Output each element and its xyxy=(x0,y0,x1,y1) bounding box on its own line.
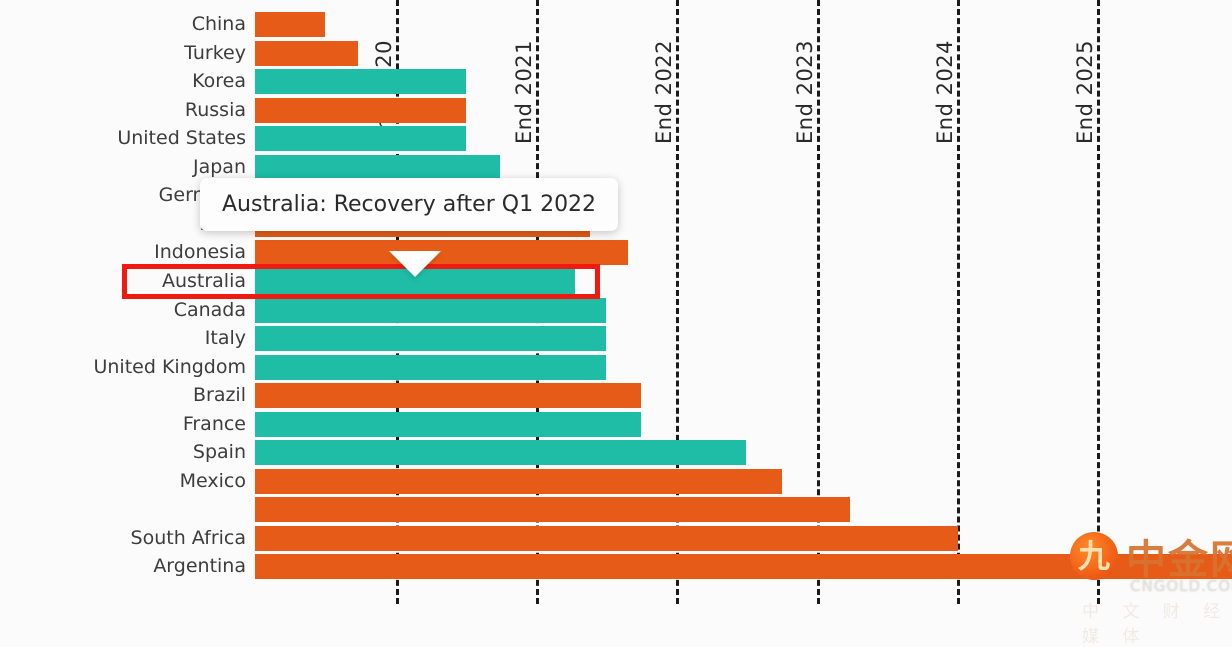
bar-indonesia[interactable] xyxy=(255,240,628,265)
y-axis-label-united-kingdom: United Kingdom xyxy=(0,358,246,377)
bar-unlabeled-17[interactable] xyxy=(255,497,850,522)
y-axis-label-united-states: United States xyxy=(0,129,246,148)
bar-korea[interactable] xyxy=(255,69,466,94)
gridline-label-end-2021: End 2021 xyxy=(512,40,536,144)
watermark-logo-glyph: 九 xyxy=(1078,540,1110,572)
tooltip-arrow-icon xyxy=(389,251,441,277)
gridline-label-end-2023: End 2023 xyxy=(793,40,817,144)
watermark: 九 中金网 CNGOLD.COM.CN 中 文 财 经 新 媒 体 xyxy=(1070,527,1232,647)
bar-france[interactable] xyxy=(255,412,641,437)
y-axis-label-mexico: Mexico xyxy=(0,472,246,491)
bar-mexico[interactable] xyxy=(255,469,782,494)
bar-spain[interactable] xyxy=(255,440,746,465)
bar-south-africa[interactable] xyxy=(255,526,958,551)
bar-russia[interactable] xyxy=(255,98,466,123)
bar-united-kingdom[interactable] xyxy=(255,355,606,380)
watermark-brand-name: 中金网 xyxy=(1126,527,1232,585)
bar-united-states[interactable] xyxy=(255,126,466,151)
bar-turkey[interactable] xyxy=(255,41,358,66)
watermark-brand-row: 九 中金网 xyxy=(1070,527,1232,585)
y-axis-label-russia: Russia xyxy=(0,101,246,120)
bar-brazil[interactable] xyxy=(255,383,641,408)
gridline-end-2024 xyxy=(957,0,960,604)
gridline-label-end-2022: End 2022 xyxy=(652,40,676,144)
y-axis-label-korea: Korea xyxy=(0,72,246,91)
bar-canada[interactable] xyxy=(255,298,606,323)
y-axis-label-canada: Canada xyxy=(0,301,246,320)
tooltip: Australia: Recovery after Q1 2022 xyxy=(200,178,618,231)
watermark-logo-icon: 九 xyxy=(1070,532,1118,580)
gridline-end-2025 xyxy=(1097,0,1100,604)
y-axis-label-south-africa: South Africa xyxy=(0,529,246,548)
bar-italy[interactable] xyxy=(255,326,606,351)
gridline-label-end-2024: End 2024 xyxy=(933,40,957,144)
tooltip-text: Australia: Recovery after Q1 2022 xyxy=(222,192,596,217)
bar-china[interactable] xyxy=(255,12,325,37)
y-axis-label-brazil: Brazil xyxy=(0,386,246,405)
chart-root: End 2020End 2021End 2022End 2023End 2024… xyxy=(0,0,1232,604)
y-axis-label-indonesia: Indonesia xyxy=(0,243,246,262)
highlight-box-australia xyxy=(122,264,600,299)
y-axis-label-turkey: Turkey xyxy=(0,44,246,63)
y-axis-label-japan: Japan xyxy=(0,158,246,177)
bar-chart-plot: End 2020End 2021End 2022End 2023End 2024… xyxy=(0,0,1232,604)
bar-japan[interactable] xyxy=(255,155,500,180)
y-axis-label-spain: Spain xyxy=(0,443,246,462)
y-axis-label-italy: Italy xyxy=(0,329,246,348)
watermark-tagline: 中 文 财 经 新 媒 体 xyxy=(1082,597,1232,647)
y-axis-label-france: France xyxy=(0,415,246,434)
gridline-label-end-2025: End 2025 xyxy=(1073,40,1097,144)
y-axis-label-argentina: Argentina xyxy=(0,557,246,576)
y-axis-label-china: China xyxy=(0,15,246,34)
